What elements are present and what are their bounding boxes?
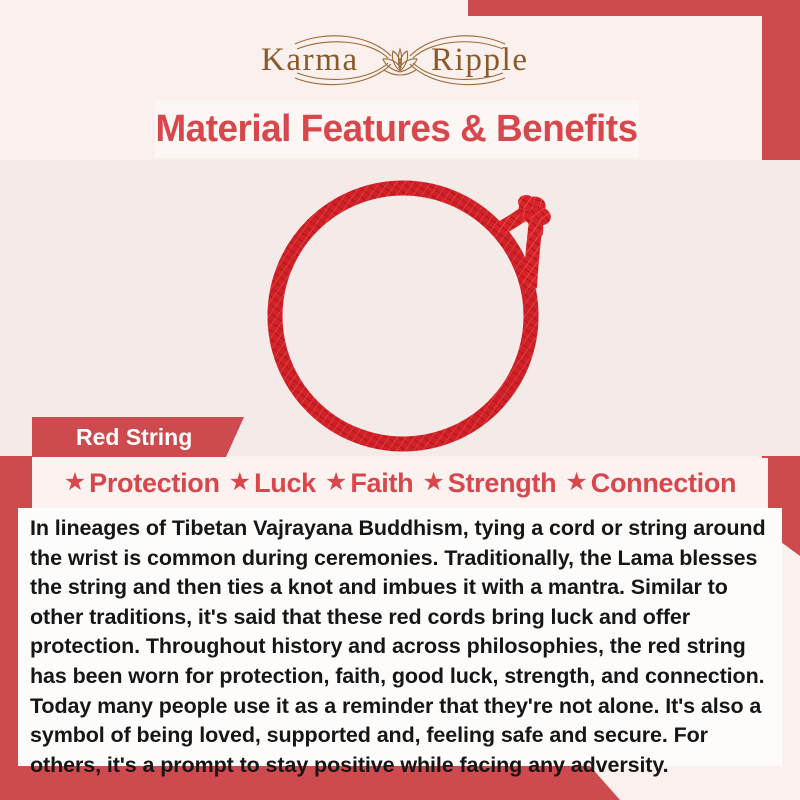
- description-panel: In lineages of Tibetan Vajrayana Buddhis…: [18, 508, 782, 766]
- star-icon: ★: [422, 470, 444, 495]
- product-feature-poster: Karma Ripple Material Features & Benefit…: [0, 0, 800, 800]
- star-icon: ★: [229, 470, 251, 495]
- hero-section: [0, 160, 800, 456]
- brand-logo: Karma Ripple: [0, 26, 800, 96]
- feature-label: Protection: [89, 468, 220, 499]
- page-title: Material Features & Benefits: [156, 108, 638, 151]
- red-string-bracelet-image: [240, 168, 580, 456]
- feature-item-strength: ★ Strength: [422, 468, 556, 499]
- feature-label: Strength: [448, 468, 557, 499]
- feature-list: ★ Protection ★ Luck ★ Faith ★ Strength ★…: [32, 458, 768, 508]
- star-icon: ★: [565, 470, 587, 495]
- material-tag: Red String: [32, 417, 244, 457]
- feature-label: Faith: [350, 468, 413, 499]
- feature-item-luck: ★ Luck: [229, 468, 316, 499]
- title-banner: Material Features & Benefits: [155, 100, 639, 158]
- brand-word-ripple: Ripple: [431, 42, 529, 78]
- feature-label: Luck: [254, 468, 316, 499]
- feature-item-connection: ★ Connection: [565, 468, 736, 499]
- feature-item-protection: ★ Protection: [64, 468, 220, 499]
- feature-item-faith: ★ Faith: [325, 468, 413, 499]
- star-icon: ★: [325, 470, 347, 495]
- material-tag-label: Red String: [32, 424, 192, 451]
- star-icon: ★: [64, 470, 86, 495]
- brand-word-karma: Karma: [261, 42, 359, 78]
- brand-logo-graphic: Karma Ripple: [235, 30, 565, 92]
- description-text: In lineages of Tibetan Vajrayana Buddhis…: [30, 514, 768, 780]
- feature-label: Connection: [591, 468, 737, 499]
- decor-top-right-bar: [468, 0, 800, 16]
